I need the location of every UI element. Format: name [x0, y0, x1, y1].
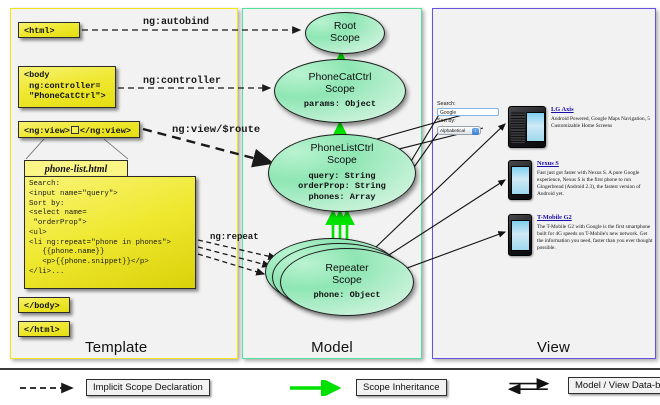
label-ng-autobind: ng:autobind — [143, 17, 209, 28]
code-body-close: </body> — [18, 297, 70, 313]
phone-name-link[interactable]: LG Axis — [551, 106, 653, 113]
scope-repeater: RepeaterScope phone: Object — [280, 248, 414, 316]
phone-screen — [511, 166, 530, 195]
ngview-open-tag: <ng:view> — [24, 126, 70, 136]
diagram-canvas: Template Model View — [0, 0, 660, 405]
sort-select[interactable]: Alphabetical ↕ — [437, 126, 481, 135]
template-file-card: phone-list.html Search: <input name="que… — [24, 160, 196, 290]
phone-details: Nexus S Fast just got faster with Nexus … — [537, 160, 653, 198]
template-file-code: Search: <input name="query"> Sort by: <s… — [24, 176, 196, 289]
phone-thumbnail — [508, 160, 532, 200]
sort-select-value: Alphabetical — [440, 128, 465, 133]
panel-label-view: View — [433, 339, 660, 356]
phone-thumbnail — [508, 214, 532, 256]
search-input[interactable]: Google — [437, 108, 499, 116]
legend-item-implicit-scope: Implicit Scope Declaration — [18, 379, 210, 396]
code-ngview: <ng:view></ng:view> — [18, 121, 140, 138]
phone-screen — [526, 112, 545, 142]
scope-root-title: RootScope — [330, 21, 360, 45]
label-ng-repeat: ng:repeat — [210, 232, 259, 242]
code-body-open: <body ng:controller= "PhoneCatCtrl"> — [18, 66, 116, 108]
panel-label-model: Model — [243, 339, 421, 356]
phone-device-icon — [508, 106, 546, 148]
phone-snippet: Android Powered, Google Maps Navigation,… — [551, 116, 653, 130]
legend-divider — [0, 368, 660, 370]
code-html-open: <html> — [18, 22, 80, 38]
scope-repeater-title: RepeaterScope — [325, 263, 368, 287]
scope-phonecatctrl: PhoneCatCtrlScope params: Object — [274, 59, 406, 123]
keyboard-icon — [511, 111, 525, 143]
scope-repeater-props: phone: Object — [313, 290, 380, 301]
dashed-arrow-icon — [18, 380, 80, 396]
view-search-form: Search: Google Sort by: Alphabetical ↕ — [437, 101, 501, 135]
list-item[interactable]: Nexus S Fast just got faster with Nexus … — [508, 160, 653, 200]
sort-label: Sort by: — [437, 118, 501, 125]
green-arrow-icon — [288, 380, 350, 396]
scope-phonelistctrl-title: PhoneListCtrlScope — [310, 143, 373, 167]
legend-label-implicit-scope: Implicit Scope Declaration — [86, 379, 210, 396]
double-arrow-icon — [500, 378, 562, 394]
phone-name-link[interactable]: T-Mobile G2 — [537, 214, 653, 221]
code-html-close: </html> — [18, 321, 70, 337]
phone-snippet: The T-Mobile G2 with Google is the first… — [537, 224, 653, 252]
phone-device-icon — [508, 214, 532, 256]
legend-item-scope-inheritance: Scope Inheritance — [288, 379, 447, 396]
phone-snippet: Fast just got faster with Nexus S. A pur… — [537, 170, 653, 198]
list-item[interactable]: T-Mobile G2 The T-Mobile G2 with Google … — [508, 214, 653, 256]
ngview-close-tag: </ng:view> — [80, 126, 131, 136]
ngview-placeholder-icon — [71, 126, 79, 134]
scope-phonecatctrl-title: PhoneCatCtrlScope — [308, 72, 371, 96]
phone-thumbnail — [508, 106, 546, 148]
list-item[interactable]: LG Axis Android Powered, Google Maps Nav… — [508, 106, 653, 148]
scope-root: RootScope — [305, 12, 385, 54]
scope-phonecatctrl-props: params: Object — [304, 99, 376, 110]
search-label: Search: — [437, 101, 501, 108]
scope-phonelistctrl-props: query: String orderProp: String phones: … — [298, 171, 386, 203]
phone-device-icon — [508, 160, 532, 200]
legend-label-data-binding: Model / View Data-binding — [568, 377, 660, 394]
legend-item-data-binding: Model / View Data-binding — [500, 377, 660, 394]
phone-details: T-Mobile G2 The T-Mobile G2 with Google … — [537, 214, 653, 252]
label-ng-view-route: ng:view/$route — [172, 124, 260, 136]
scope-phonelistctrl: PhoneListCtrlScope query: String orderPr… — [268, 134, 416, 212]
legend: Implicit Scope Declaration Scope Inherit… — [0, 368, 660, 405]
phone-name-link[interactable]: Nexus S — [537, 160, 653, 167]
legend-label-scope-inheritance: Scope Inheritance — [356, 379, 447, 396]
phone-screen — [511, 220, 530, 251]
template-file-name: phone-list.html — [24, 160, 128, 177]
chevron-updown-icon: ↕ — [472, 128, 479, 135]
label-ng-controller: ng:controller — [143, 76, 221, 87]
phone-details: LG Axis Android Powered, Google Maps Nav… — [551, 106, 653, 130]
